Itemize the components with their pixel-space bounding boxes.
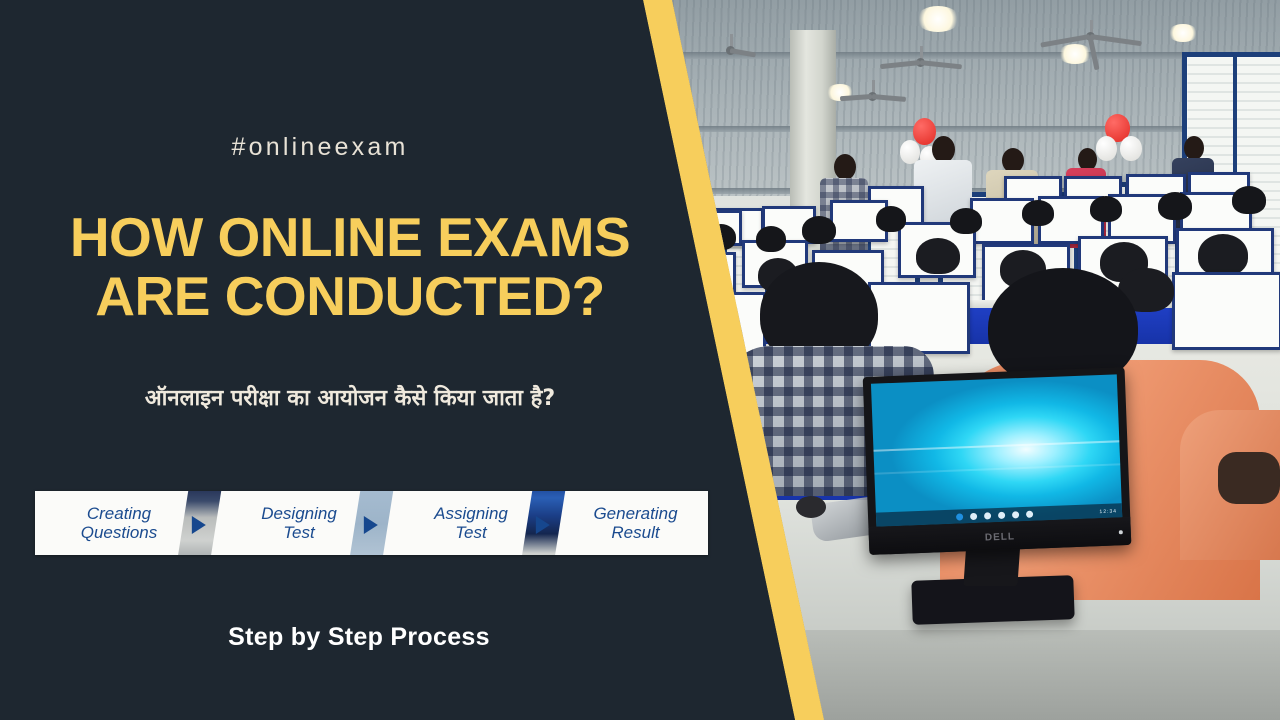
taskbar-clock: 12:34 <box>1099 508 1117 515</box>
process-step-4[interactable]: Generating Result <box>563 491 708 555</box>
process-step-3-line1: Assigning <box>434 504 508 523</box>
seated-student <box>1232 186 1266 214</box>
process-step-1[interactable]: Creating Questions <box>35 491 203 555</box>
ceiling-light <box>1058 44 1092 64</box>
hashtag-label: #onlineexam <box>0 133 640 162</box>
seated-student <box>756 226 786 252</box>
seated-student <box>1090 196 1122 222</box>
process-step-1-line1: Creating <box>81 504 158 523</box>
monitor <box>1172 272 1280 350</box>
balloon <box>913 118 936 145</box>
process-step-4-line1: Generating <box>593 504 677 523</box>
desk-grommet <box>796 496 826 518</box>
seated-student <box>950 208 982 234</box>
process-step-2-line1: Designing <box>261 504 337 523</box>
arrow-right-icon <box>364 516 378 534</box>
subtitle-hindi: ऑनलाइन परीक्षा का आयोजन कैसे किया जाता ह… <box>0 382 700 412</box>
left-content: #onlineexam HOW ONLINE EXAMS ARE CONDUCT… <box>0 0 672 720</box>
process-step-3-line2: Test <box>434 523 508 542</box>
process-step-2-line2: Test <box>261 523 337 542</box>
process-flow-bar: Creating Questions Designing Test Assign… <box>35 491 708 555</box>
monitor <box>868 282 970 354</box>
seated-student <box>1158 192 1192 220</box>
title-line-2: ARE CONDUCTED? <box>0 267 700 326</box>
monitor-screen: 12:34 <box>871 374 1122 526</box>
balloon <box>1096 136 1117 161</box>
page-title: HOW ONLINE EXAMS ARE CONDUCTED? <box>0 208 700 326</box>
dell-monitor: 12:34 DELL <box>863 367 1132 555</box>
arrow-right-icon <box>192 516 206 534</box>
ceiling-light <box>1168 24 1198 42</box>
seated-student <box>802 216 836 244</box>
arrow-right-icon <box>536 516 550 534</box>
seated-student <box>1022 200 1054 226</box>
process-step-4-line2: Result <box>593 523 677 542</box>
dell-logo: DELL <box>985 531 1016 543</box>
title-line-1: HOW ONLINE EXAMS <box>70 206 630 268</box>
footer-label: Step by Step Process <box>0 623 718 652</box>
ceiling-light <box>916 6 960 32</box>
balloon <box>1120 136 1142 161</box>
poster-canvas: 12:34 DELL #onlineexam HOW ONLINE EXAMS … <box>0 0 1280 720</box>
seated-student <box>916 238 960 274</box>
seated-student <box>876 206 906 232</box>
process-step-1-line2: Questions <box>81 523 158 542</box>
seated-student <box>1198 234 1248 276</box>
